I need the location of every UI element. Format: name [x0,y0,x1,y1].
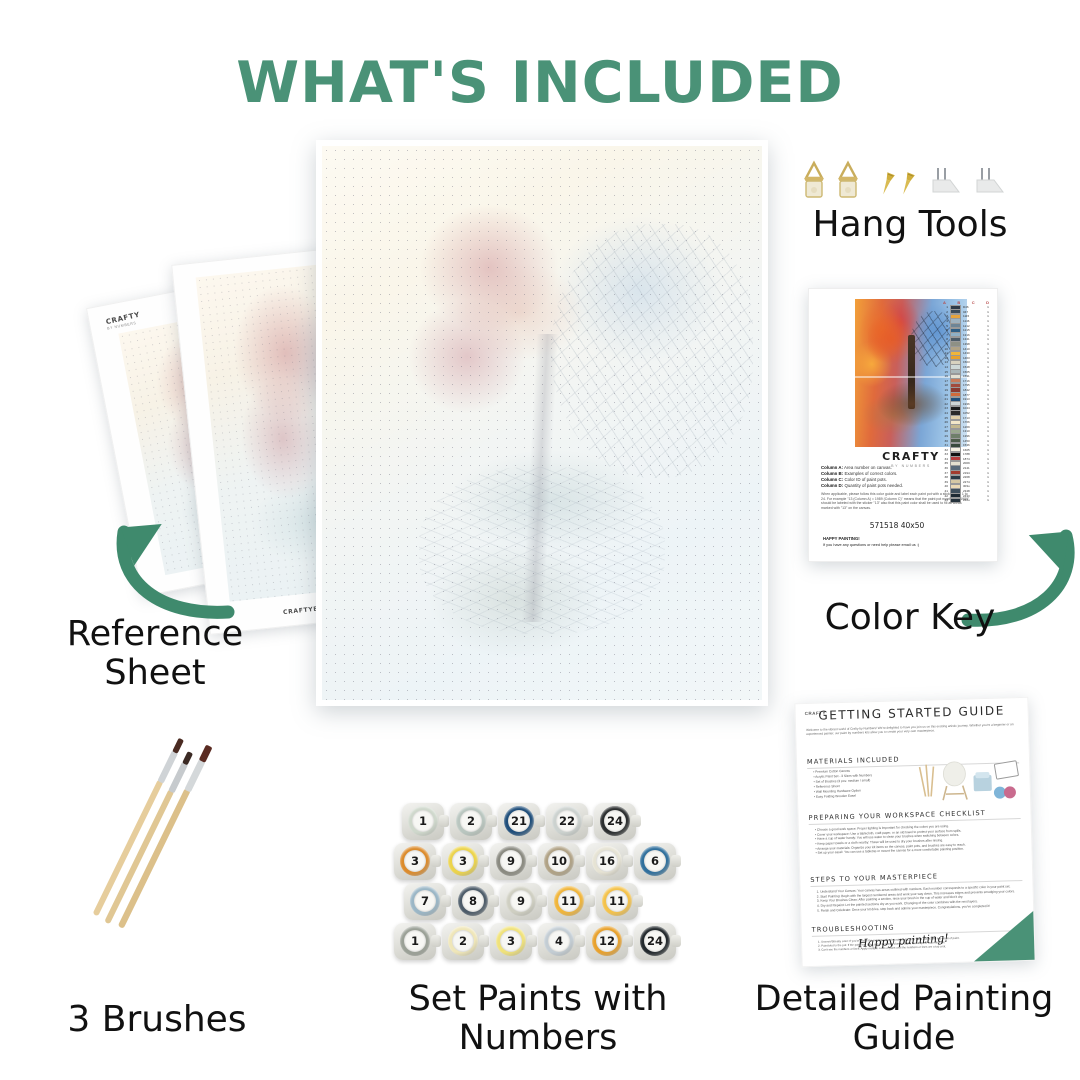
color-key-cell-a: 25 [942,416,948,420]
color-key-cell-a: 22 [942,402,948,406]
color-key-cell-d: 1 [986,494,990,498]
color-key-column-c-key: Column C: [821,477,843,482]
wall-hook-icon [928,166,962,196]
color-key-happy-text: HAPPY PAINTING! [823,536,860,541]
color-key-cell-c: 1310 [963,429,984,433]
color-key-cell-d: 1 [986,416,990,420]
paint-pot-number: 12 [596,930,618,952]
color-key-cell-c: 1146 [963,319,984,323]
color-key-cell-a: 4 [942,319,948,323]
paint-pot: 3 [488,920,534,962]
color-key-cell-d: 1 [986,310,990,314]
paint-pots-group: 1221222433910166789111112341224 [392,800,684,960]
color-key-cell-d: 1 [986,388,990,392]
paint-pot-number: 11 [606,890,628,912]
color-key-cell-a: 34 [942,457,948,461]
color-key-cell-d: 1 [986,484,990,488]
color-key-column-d: Column D: Quantity of paint pots needed. [821,483,903,489]
color-key-cell-a: 41 [942,489,948,493]
color-key-cell-a: 7 [942,333,948,337]
color-key-cell-c: 1605 [963,448,984,452]
paint-pot-tab [633,895,643,907]
paint-pot-number: 22 [556,810,578,832]
guide-intro: Welcome to the vibrant world of Crafty b… [806,722,1018,737]
color-key-cell-a: 31 [942,443,948,447]
guide-material-icons [915,758,1022,805]
paint-pot-number: 2 [452,930,474,952]
paint-pot-row: 7891111 [402,880,642,922]
color-key-cell-a: 42 [942,494,948,498]
color-key-cell-c: 1052 [963,411,984,415]
color-key-cell-a: 23 [942,406,948,410]
guide-materials-list: • Premium Cotton Canvas• Acrylic Paint S… [813,767,910,799]
color-key-cell-a: 30 [942,439,948,443]
color-key-cell-c: 1398 [963,342,984,346]
color-key-cell-c: 1396 [963,434,984,438]
color-key-cell-c: 1565 [963,370,984,374]
color-key-cell-a: 8 [942,337,948,341]
guide-steps-list: 1. Understand Your Canvas: Your canvas h… [817,884,1018,913]
paint-pot: 11 [546,880,592,922]
paint-pot-number: 9 [510,890,532,912]
color-key-cell-c: 1795 [963,383,984,387]
color-key-cell-d: 1 [986,411,990,415]
color-key-cell-d: 1 [986,393,990,397]
brushes-icon [919,764,935,796]
color-key-table: A B C D 1D461204713111514114615121216121… [942,300,990,503]
color-key-cell-c: 2009 [963,461,984,465]
wall-hook-icon-2 [972,166,1006,196]
color-key-swatch [950,498,961,503]
paint-pot: 9 [498,880,544,922]
infographic-root: WHAT'S INCLUDED CRAFTY BY NUMBERS CRAFTY… [0,0,1080,1080]
color-key-cell-a: 33 [942,452,948,456]
color-key-cell-a: 11 [942,351,948,355]
color-key-header-c: C [972,300,975,305]
paint-pot-row: 12212224 [400,800,640,842]
paint-pot-row: 12341224 [392,920,680,962]
color-key-cell-a: 3 [942,314,948,318]
color-key-cell-c: 246u [963,498,984,502]
color-key-cell-a: 27 [942,425,948,429]
color-key-cell-c: 1913 [963,397,984,401]
paint-pot: 7 [402,880,448,922]
color-key-product-code: 571518 40x50 [821,521,973,530]
color-key-cell-c: 2194 [963,471,984,475]
color-key-cell-a: 36 [942,466,948,470]
paint-pot: 1 [392,920,438,962]
paint-pot: 11 [594,880,640,922]
color-key-cell-a: 19 [942,388,948,392]
guide-heading-materials: MATERIALS INCLUDED [807,755,900,766]
color-key-cell-c: 1716 [963,379,984,383]
page-title: WHAT'S INCLUDED [0,50,1080,116]
paint-pot: 24 [592,800,638,842]
color-key-cell-a: 21 [942,397,948,401]
paint-pot-number: 10 [548,850,570,872]
color-key-cell-c: 1874 [963,457,984,461]
brushes-group [72,730,262,970]
paint-pot-number: 2 [460,810,482,832]
color-key-cell-d: 1 [986,489,990,493]
color-key-cell-c: 1536 [963,443,984,447]
color-key-cell-d: 1 [986,448,990,452]
paint-pot: 10 [536,840,582,882]
color-key-cell-d: 1 [986,471,990,475]
caption-guide: Detailed Painting Guide [728,980,1080,1058]
brush-set-icon [72,730,262,970]
color-key-cell-a: 5 [942,324,948,328]
color-key-cell-a: 17 [942,379,948,383]
guide-title: GETTING STARTED GUIDE [796,703,1028,723]
color-key-cell-c: 2348 [963,489,984,493]
paint-pot-number: 3 [404,850,426,872]
canvas-roll-icon [973,772,992,791]
color-key-cell-c: 1713 [963,416,984,420]
color-key-cell-c: 047 [963,310,984,314]
canvas-artwork [322,146,762,700]
color-key-column-b-desc: Examples of correct colors. [844,471,897,476]
color-key-cell-a: 28 [942,429,948,433]
color-key-column-c-desc: Color ID of paint pots. [844,477,886,482]
color-key-cell-d: 1 [986,429,990,433]
easel-icon [942,762,967,801]
paint-pot-number: 24 [644,930,666,952]
color-key-cell-c: 1212 [963,324,984,328]
paint-pot-number: 8 [462,890,484,912]
color-key-cell-a: 35 [942,461,948,465]
color-key-cell-a: 6 [942,328,948,332]
numbered-canvas [316,140,768,706]
color-key-cell-c: 1591 [963,374,984,378]
color-key-cell-a: 43 [942,498,948,502]
color-key-cell-d: 1 [986,439,990,443]
color-key-cell-a: 10 [942,347,948,351]
color-key-cell-c: 1430 [963,351,984,355]
color-key-cell-d: 1 [986,379,990,383]
color-key-cell-a: 12 [942,356,948,360]
color-key-cell-a: 13 [942,360,948,364]
paint-pot-tab [631,815,641,827]
paint-pot-number: 11 [558,890,580,912]
color-key-cell-a: 20 [942,393,948,397]
hang-tools-group [800,158,1015,204]
color-key-cell-d: 1 [986,397,990,401]
color-key-cell-d: 1 [986,324,990,328]
paint-pot-row: 33910166 [392,840,680,882]
color-key-cell-d: 1 [986,347,990,351]
paint-pot-number: 21 [508,810,530,832]
guide-heading-troubleshooting: TROUBLESHOOTING [812,924,895,934]
arrow-to-reference-sheet [110,470,240,620]
color-key-cell-a: 24 [942,411,948,415]
color-key-cell-d: 1 [986,337,990,341]
color-key-header-a: A [943,300,946,305]
canvas-number-dots [322,146,762,700]
color-key-cell-c: 1269 [963,425,984,429]
d-ring-hanger-icon [802,160,826,200]
paint-pot-tab [671,855,681,867]
color-key-cell-a: 26 [942,420,948,424]
paint-pot: 2 [440,920,486,962]
color-key-cell-d: 1 [986,360,990,364]
paint-pot-number: 9 [500,850,522,872]
color-key-roots [877,382,946,426]
color-key-header-d: D [986,300,989,305]
color-key-cell-c: D46 [963,305,984,309]
color-key-cell-c: 1215 [963,328,984,332]
color-key-cell-c: 2433 [963,494,984,498]
color-key-cell-d: 1 [986,342,990,346]
paint-pot-number: 6 [644,850,666,872]
color-key-cell-a: 1 [942,305,948,309]
caption-paints: Set Paints with Numbers [360,980,716,1058]
screw-icon-2 [896,169,919,198]
color-key-cell-a: 2 [942,310,948,314]
color-key-cell-a: 18 [942,383,948,387]
color-key-cell-d: 1 [986,434,990,438]
paint-pot-number: 16 [596,850,618,872]
color-key-cell-c: 2141 [963,466,984,470]
frame-icon [994,761,1018,780]
color-key-cell-c: 1936 [963,402,984,406]
color-key-cell-d: 1 [986,305,990,309]
color-key-cell-c: 1463 [963,356,984,360]
color-key-cell-c: 303u [963,484,984,488]
paint-pot: 4 [536,920,582,962]
caption-reference-sheet: Reference Sheet [20,615,290,693]
color-key-table-body: 1D46120471311151411461512121612151713161… [942,305,990,503]
color-key-cell-d: 1 [986,406,990,410]
paint-pot: 8 [450,880,496,922]
color-key-cell-a: 16 [942,374,948,378]
paint-pots-icon [994,786,1016,799]
color-key-cell-c: 1115 [963,314,984,318]
paint-pot: 12 [584,920,630,962]
caption-brushes: 3 Brushes [22,1000,292,1040]
color-key-cell-d: 1 [986,475,990,479]
paint-pot: 16 [584,840,630,882]
color-key-cell-c: 1766 [963,420,984,424]
color-key-cell-d: 1 [986,374,990,378]
screw-icon [876,169,899,198]
paint-pot-number: 4 [548,930,570,952]
color-key-cell-d: 1 [986,480,990,484]
color-key-column-a-desc: Area number on canvas. [844,465,892,470]
color-key-cell-a: 38 [942,475,948,479]
caption-hang-tools: Hang Tools [790,205,1030,245]
color-key-column-a-key: Column A: [821,465,843,470]
color-key-card: CRAFTY BY NUMBERS Column A: Area number … [808,288,998,562]
guide-workspace-list: • Choose a good work space: Proper light… [815,822,1016,855]
paint-pot-number: 3 [500,930,522,952]
paint-pot: 24 [632,920,678,962]
paint-pot: 21 [496,800,542,842]
color-key-cell-c: 1877 [963,393,984,397]
color-key-cell-d: 1 [986,420,990,424]
color-key-cell-c: 1503 [963,360,984,364]
color-key-cell-a: 14 [942,365,948,369]
color-key-cell-d: 1 [986,333,990,337]
color-key-cell-c: 1316 [963,333,984,337]
color-key-cell-d: 1 [986,457,990,461]
color-key-cell-d: 1 [986,452,990,456]
color-key-cell-a: 37 [942,471,948,475]
color-key-cell-c: 1548 [963,365,984,369]
color-key-happy-painting: HAPPY PAINTING! If you have any question… [823,536,919,549]
color-key-cell-c: 2268 [963,475,984,479]
paint-pot-number: 24 [604,810,626,832]
color-key-cell-c: 2274 [963,480,984,484]
paint-pot: 1 [400,800,446,842]
color-key-cell-a: 40 [942,484,948,488]
paint-pot: 9 [488,840,534,882]
color-key-cell-d: 1 [986,498,990,502]
paint-pot-tab [671,935,681,947]
paint-pot: 3 [440,840,486,882]
color-key-cell-a: 29 [942,434,948,438]
color-key-cell-d: 1 [986,365,990,369]
color-key-cell-d: 1 [986,356,990,360]
caption-color-key: Color Key [790,598,1030,638]
color-key-cell-d: 1 [986,443,990,447]
color-key-cell-d: 1 [986,461,990,465]
color-key-cell-d: 1 [986,383,990,387]
color-key-cell-c: 1410 [963,347,984,351]
color-key-cell-a: 9 [942,342,948,346]
color-key-support-text: If you have any questions or need help p… [823,543,919,547]
paint-pot-number: 7 [414,890,436,912]
color-key-cell-a: 39 [942,480,948,484]
paint-pot: 22 [544,800,590,842]
color-key-cell-a: 32 [942,448,948,452]
color-key-cell-d: 1 [986,314,990,318]
color-key-cell-d: 1 [986,328,990,332]
color-key-cell-d: 1 [986,425,990,429]
color-key-cell-d: 1 [986,466,990,470]
color-key-cell-c: 1842 [963,388,984,392]
color-key-cell-d: 1 [986,319,990,323]
color-key-cell-c: 1788 [963,452,984,456]
paint-pot: 2 [448,800,494,842]
color-key-cell-a: 15 [942,370,948,374]
color-key-column-d-desc: Quantity of paint pots needed. [844,483,903,488]
color-key-cell-d: 1 [986,402,990,406]
color-key-column-b-key: Column B: [821,471,843,476]
d-ring-hanger-icon-2 [836,160,860,200]
color-key-cell-c: 1450 [963,439,984,443]
paint-pot: 3 [392,840,438,882]
paint-pot-number: 1 [404,930,426,952]
getting-started-guide-document: CRAFTY GETTING STARTED GUIDE Welcome to … [794,697,1035,967]
color-key-cell-d: 1 [986,370,990,374]
color-key-column-d-key: Column D: [821,483,843,488]
paint-pot-number: 3 [452,850,474,872]
color-key-cell-c: 1044 [963,406,984,410]
color-key-cell-c: 1341 [963,337,984,341]
color-key-cell-d: 1 [986,351,990,355]
paint-pot-number: 1 [412,810,434,832]
color-key-table-row: 43246u1 [942,498,990,503]
color-key-autumn-canopy [868,311,913,367]
paint-pot: 6 [632,840,678,882]
